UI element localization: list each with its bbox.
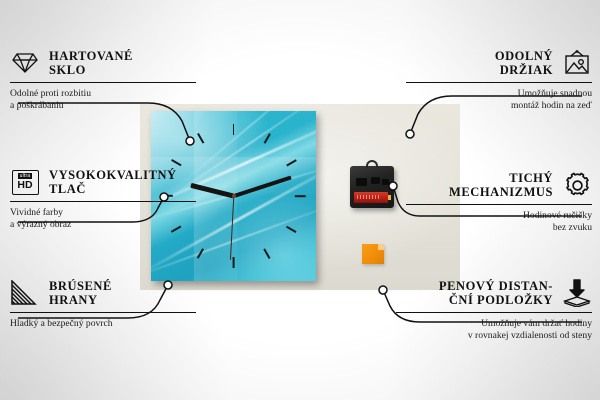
mechanism-slot [356, 178, 367, 186]
feature-ground-edges: BRÚSENÉ HRANY Hladký a bezpečný povrch [10, 278, 196, 330]
mechanism-slot [371, 177, 380, 184]
foam-spacer-pad [362, 244, 384, 264]
gear-icon [562, 170, 592, 200]
feature-header: ODOLNÝ DRŽIAK [406, 48, 592, 78]
feature-silent-mechanism: TICHÝ MECHANIZMUS Hodinové ručičky bez z… [406, 170, 592, 234]
feature-durable-holder: ODOLNÝ DRŽIAK Umožňuje snadnou montáž ho… [406, 48, 592, 112]
hatched-edge-icon [10, 278, 40, 308]
press-down-stack-icon [562, 278, 592, 308]
feature-description: Umožňuje snadnou montáž hodin na zeď [406, 88, 592, 112]
feature-description: Odolné proti rozbitiu a poškrábaniu [10, 88, 196, 112]
feature-description: Umožňuje vám držať hodiny v rovnakej vzd… [396, 318, 592, 342]
feature-title: PENOVÝ DISTAN- ČNÍ PODLOŽKY [439, 279, 553, 307]
infographic-canvas: HARTOVANÉ SKLO Odolné proti rozbitiu a p… [0, 0, 600, 400]
feature-title: HARTOVANÉ SKLO [49, 49, 133, 77]
feature-description: Vividné farby a výrazný obraz [10, 207, 196, 231]
feature-title: VYSOKOKVALITNÝ TLAČ [49, 168, 177, 196]
aa-battery [354, 192, 388, 203]
divider [396, 312, 592, 313]
feature-header: ultra HD VYSOKOKVALITNÝ TLAČ [10, 167, 196, 197]
feature-title: TICHÝ MECHANIZMUS [449, 171, 553, 199]
feature-title: BRÚSENÉ HRANY [49, 279, 112, 307]
clock-mechanism [350, 166, 394, 208]
mechanism-hanger-hook [366, 160, 378, 168]
mechanism-slot [382, 179, 389, 185]
feature-foam-spacers: PENOVÝ DISTAN- ČNÍ PODLOŽKY Umožňuje vám… [396, 278, 592, 342]
divider [10, 82, 196, 83]
divider [406, 82, 592, 83]
feature-header: BRÚSENÉ HRANY [10, 278, 196, 308]
feature-header: HARTOVANÉ SKLO [10, 48, 196, 78]
clock-center-pin [232, 194, 236, 198]
clock-tick [234, 195, 306, 197]
battery-label [357, 195, 381, 199]
feature-tempered-glass: HARTOVANÉ SKLO Odolné proti rozbitiu a p… [10, 48, 196, 112]
ultra-hd-icon: ultra HD [10, 167, 40, 197]
feature-title: ODOLNÝ DRŽIAK [495, 49, 553, 77]
divider [10, 312, 196, 313]
divider [10, 201, 196, 202]
divider [406, 204, 592, 205]
diamond-icon [10, 48, 40, 78]
feature-description: Hodinové ručičky bez zvuku [406, 210, 592, 234]
feature-header: TICHÝ MECHANIZMUS [406, 170, 592, 200]
feature-header: PENOVÝ DISTAN- ČNÍ PODLOŽKY [396, 278, 592, 308]
feature-description: Hladký a bezpečný povrch [10, 318, 196, 330]
feature-high-quality-print: ultra HD VYSOKOKVALITNÝ TLAČ Vividné far… [10, 167, 196, 231]
framed-picture-hanging-icon [562, 48, 592, 78]
clock-tick [233, 124, 235, 196]
